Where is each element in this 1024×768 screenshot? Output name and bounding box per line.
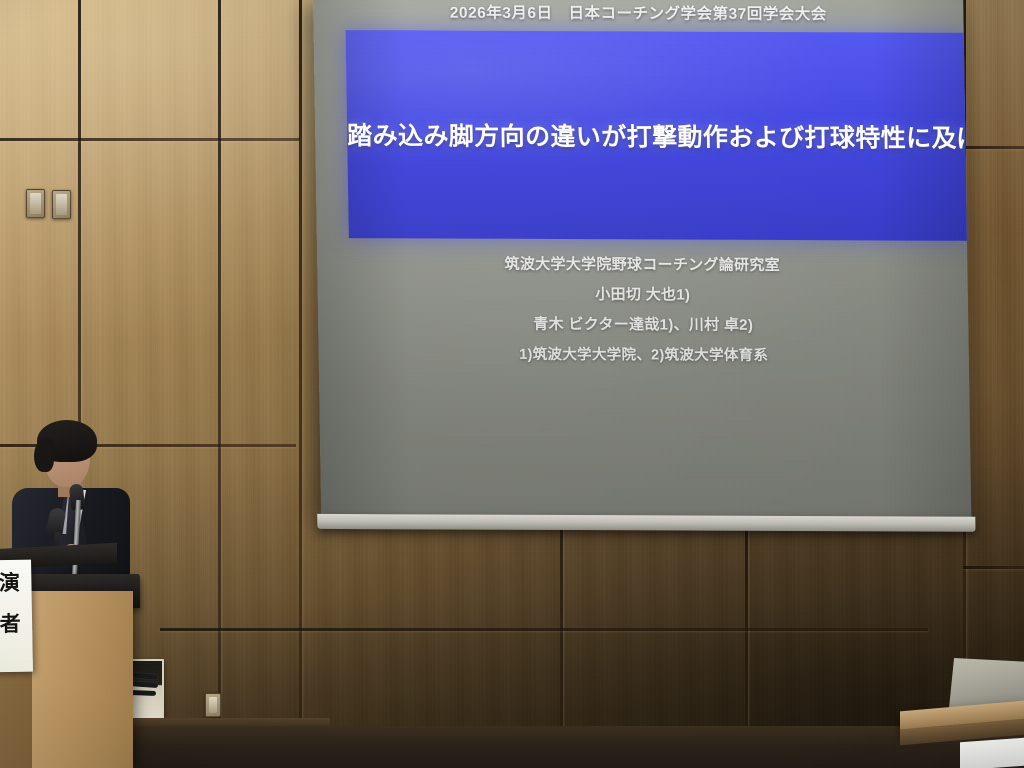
wall-seam-horizontal [960,146,1024,149]
wall-outlet-plate[interactable] [205,693,221,717]
podium-sign-presenter: 演 者 [0,560,33,673]
projection-screen: 2026年3月6日 日本コーチング学会第37回学会大会 踏み込み脚方向の違いが打… [313,0,971,519]
slide-title: 踏み込み脚方向の違いが打撃動作および打球特性に及ぼす影響 [347,116,968,155]
screen-bottom-bar [317,514,975,532]
podium-sign-char-1: 演 [0,560,32,601]
wall-seam-horizontal [963,566,1024,569]
wall-switch-plate[interactable] [52,190,71,219]
presentation-photo-scene: 2026年3月6日 日本コーチング学会第37回学会大会 踏み込み脚方向の違いが打… [0,0,1024,768]
presenter-hair-side [34,438,54,472]
wall-seam-vertical [299,0,302,768]
screen-shading [313,0,971,519]
wall-seam-horizontal [0,138,300,141]
podium-front [28,591,133,768]
podium-sign-char-2: 者 [0,600,32,641]
wall-switch-plate[interactable] [26,189,45,218]
wall-seam-horizontal [160,628,928,631]
table-paper [960,738,1024,768]
floor [0,726,1024,768]
wall-seam-vertical [218,0,221,768]
